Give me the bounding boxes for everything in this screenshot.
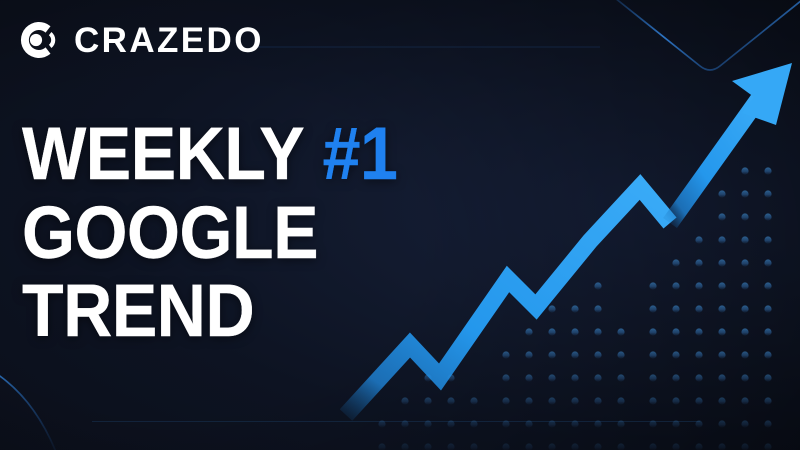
arrow-shaft-upper [670, 97, 760, 223]
brand-wordmark: CRAZEDO [74, 23, 264, 58]
brand-logo[interactable]: CRAZEDO [14, 17, 264, 63]
upward-trend-arrow-icon [340, 55, 800, 450]
headline-weekly-text: WEEKLY [22, 112, 304, 195]
crazedo-c-mark-icon [14, 17, 60, 63]
growth-chart-graphic [340, 55, 800, 450]
arrow-shaft [346, 187, 670, 415]
bottom-left-curve-line [0, 372, 56, 450]
trend-banner-canvas: CRAZEDO WEEKLY#1 GOOGLE TREND [0, 0, 800, 450]
